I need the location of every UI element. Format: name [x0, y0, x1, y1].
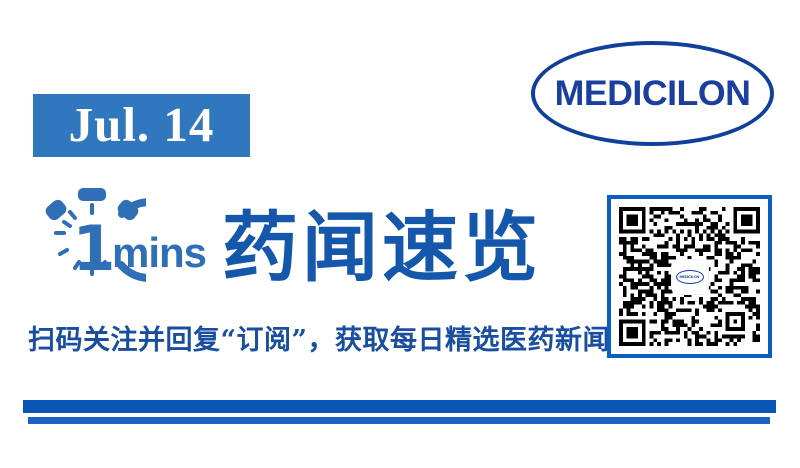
brand-logo: MEDICILON — [531, 41, 774, 146]
qr-code-inner: MEDICILON — [619, 207, 760, 346]
date-badge: Jul. 14 — [33, 94, 250, 157]
headline: 药闻速览 — [222, 210, 542, 286]
qr-center-logo-ellipse: MEDICILON — [676, 270, 704, 284]
subtitle: 扫码关注并回复“订阅”，获取每日精选医药新闻 — [28, 325, 610, 356]
news-banner: Jul. 14 MEDICILON — [0, 0, 800, 468]
bottom-rule-thin — [28, 417, 770, 424]
brand-logo-label: MEDICILON — [529, 41, 777, 146]
qr-code[interactable]: MEDICILON — [607, 195, 772, 358]
stopwatch-number: 1 — [72, 212, 115, 285]
bottom-rule-thick — [23, 400, 776, 413]
qr-center-logo: MEDICILON — [672, 260, 708, 294]
qr-center-logo-label: MEDICILON — [680, 274, 700, 279]
date-badge-label: Jul. 14 — [69, 100, 215, 149]
mins-label: mins — [112, 232, 206, 274]
